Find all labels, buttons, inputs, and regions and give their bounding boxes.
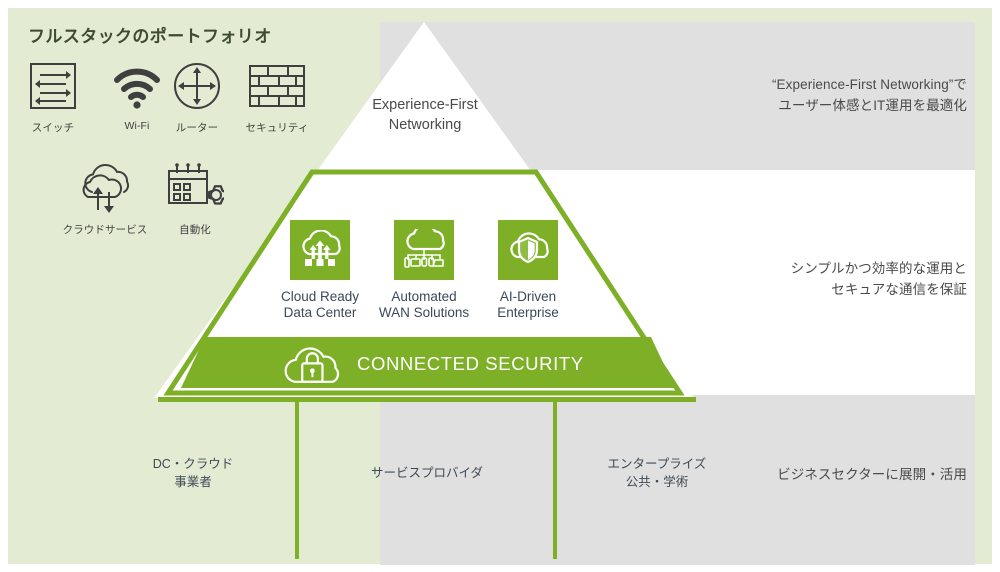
segment-label-dc-cloud: DC・クラウド 事業者 [128,455,258,491]
portfolio-item-label: セキュリティ [234,120,320,135]
cloud-wan-icon [394,220,454,280]
note-simple-secure: シンプルかつ効率的な運用と セキュアな通信を保証 [547,259,967,301]
portfolio-item-automation: 自動化 [152,160,238,237]
portfolio-item-label: スイッチ [10,120,96,135]
cloud-service-icon [62,160,148,216]
cloud-datacenter-icon [290,220,350,280]
pyramid-apex-label: Experience-First Networking [340,96,510,135]
portfolio-title: フルスタックのポートフォリオ [28,22,272,47]
connected-security-label: CONNECTED SECURITY [357,353,584,375]
automation-icon [152,160,238,216]
router-icon [154,58,240,114]
security-wall-icon [234,58,320,114]
segment-divider-left [295,402,299,559]
portfolio-item-label: クラウドサービス [62,222,148,237]
switch-icon [10,58,96,114]
portfolio-item-router: ルーター [154,58,240,135]
note-business-sector: ビジネスセクターに展開・活用 [547,465,967,486]
portfolio-item-label: 自動化 [152,222,238,237]
portfolio-item-cloud-service: クラウドサービス [62,160,148,237]
note-experience-first: “Experience-First Networking”で ユーザー体感とIT… [547,75,967,117]
portfolio-item-security: セキュリティ [234,58,320,135]
portfolio-item-label: ルーター [154,120,240,135]
diagram-canvas: フルスタックのポートフォリオ スイッチ [0,0,1000,572]
portfolio-item-switch: スイッチ [10,58,96,135]
segment-label-service-provider: サービスプロバイダ [362,464,492,482]
pyramid-base-line [158,397,696,402]
